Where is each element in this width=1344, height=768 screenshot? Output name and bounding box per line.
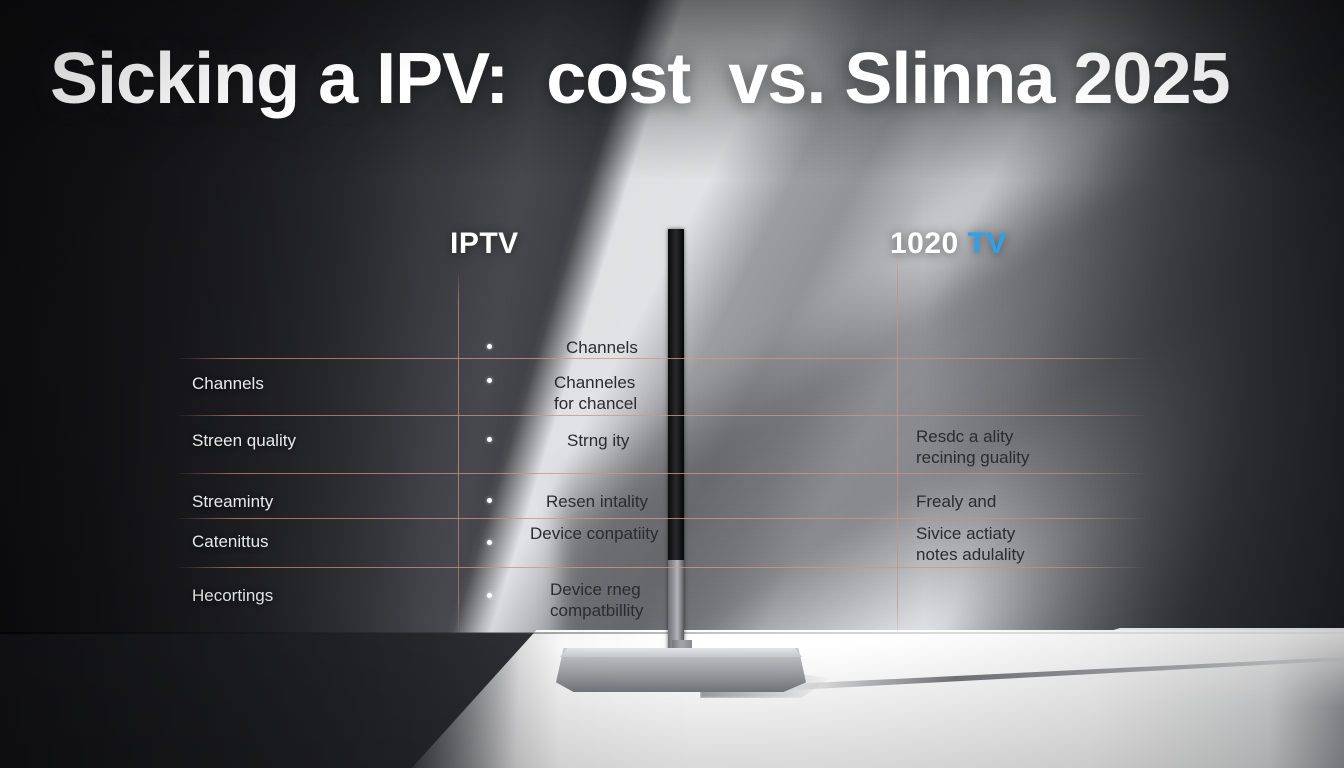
row-marker-dot [487, 437, 492, 442]
row-label: Hecortings [192, 585, 273, 606]
row-divider [178, 415, 1144, 416]
row-marker-dot [487, 498, 492, 503]
comparison-table: IPTV 1020 TV Channels Streen quality Str… [178, 225, 1148, 635]
row-marker-dot [487, 378, 492, 383]
column-header-1020tv-primary: 1020 [890, 227, 959, 260]
row-label: Channels [192, 373, 264, 394]
feature-cell: Device conpatiity [530, 523, 659, 544]
row-divider [178, 567, 1144, 568]
row-label: Streaminty [192, 491, 273, 512]
row-marker-dot [487, 540, 492, 545]
column-divider-left [458, 273, 459, 631]
feature-cell: Device rneg compatbillity [550, 579, 644, 621]
feature-cell: Resen intality [546, 491, 648, 512]
row-marker-dot [487, 344, 492, 349]
value-cell: Sivice actiaty notes adulality [916, 523, 1025, 565]
value-cell: Frealy and [916, 491, 996, 512]
feature-cell: Strng ity [567, 430, 629, 451]
feature-cell: Channels [566, 337, 638, 358]
feature-cell: Channeles for chancel [554, 372, 637, 414]
row-divider [178, 518, 1144, 519]
page-title: Sicking a IPV: cost vs. Slinna 2025 [50, 38, 1320, 120]
row-label: Streen quality [192, 430, 296, 451]
column-divider-right [897, 253, 898, 635]
row-divider [178, 358, 1144, 359]
column-header-1020tv-accent: TV [968, 227, 1007, 260]
value-cell: Resdc a ality recining guality [916, 426, 1029, 468]
row-label: Catenittus [192, 531, 269, 552]
floor-left-falloff [0, 633, 560, 768]
infographic-stage: Sicking a IPV: cost vs. Slinna 2025 IPTV… [0, 0, 1344, 768]
monitor-stand-base-top [560, 648, 802, 657]
column-header-1020tv: 1020 TV [890, 227, 1007, 261]
row-divider [178, 473, 1144, 474]
row-marker-dot [487, 593, 492, 598]
column-header-iptv: IPTV [450, 227, 519, 261]
